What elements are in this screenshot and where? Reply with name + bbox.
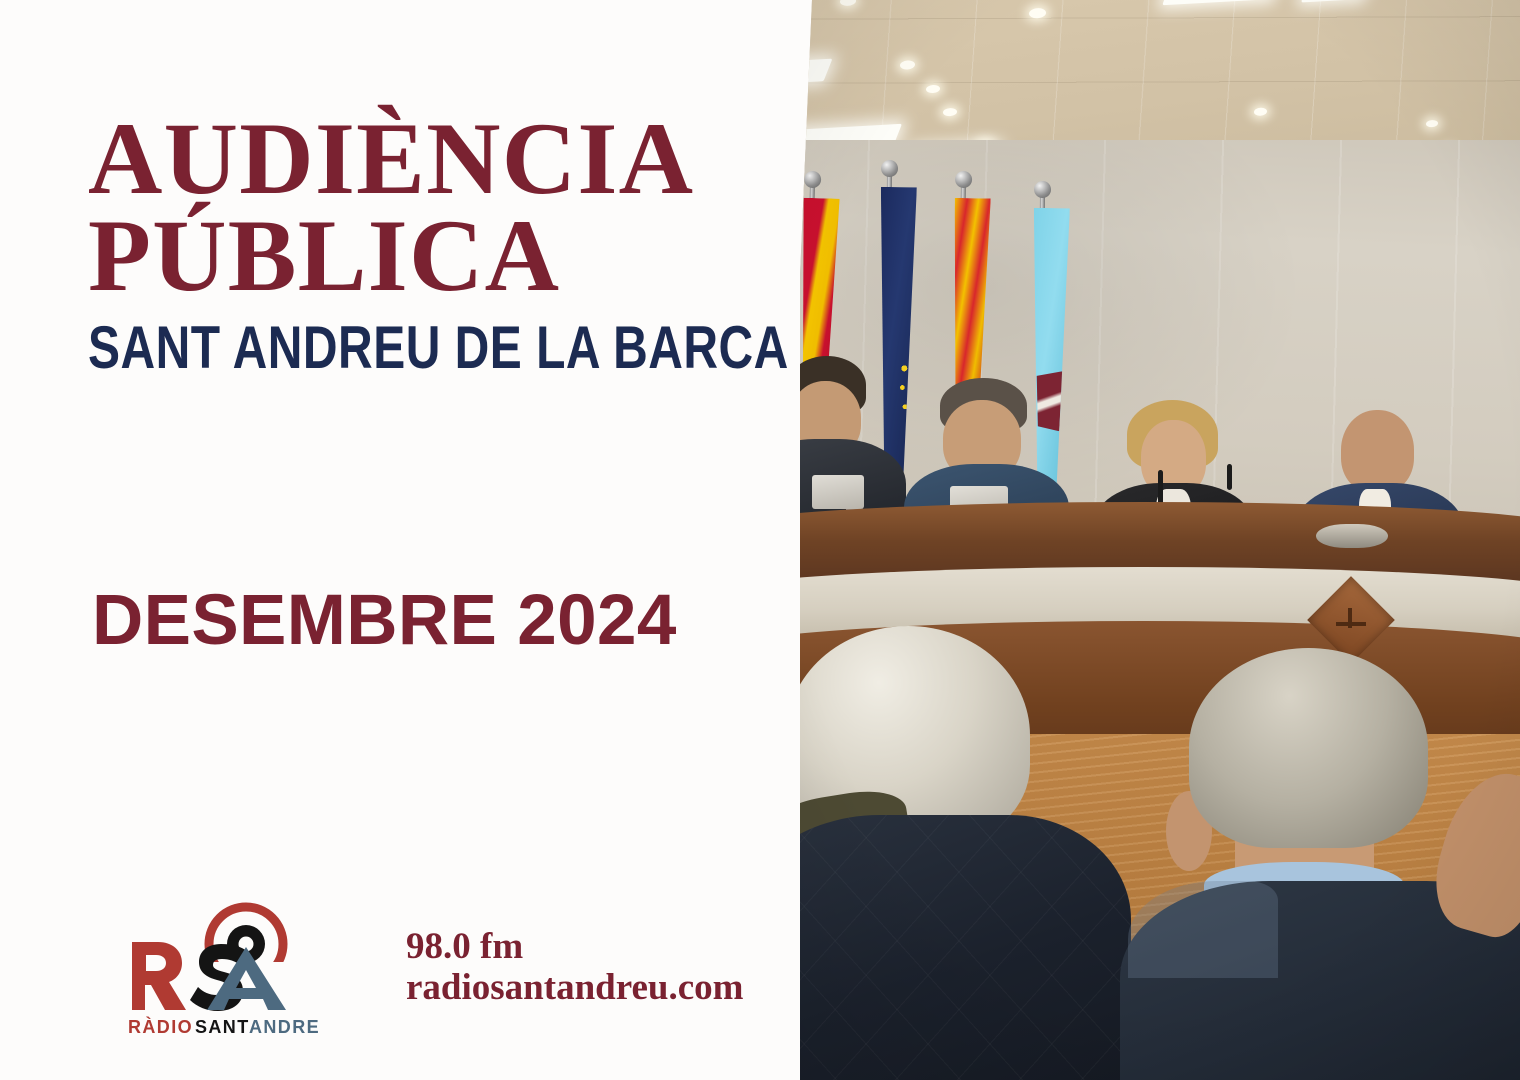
event-date: DESEMBRE 2024 [92, 585, 677, 656]
subtitle-municipality: SANT ANDREU DE LA BARCA [88, 304, 632, 378]
laptop-screen [812, 475, 864, 509]
photo-scene [750, 0, 1520, 1080]
logo-wordmark-andreu: ANDREU [249, 1017, 318, 1037]
logo-letter-r [132, 942, 186, 1010]
flag-finial [881, 160, 898, 177]
rsa-logo-svg: RÀDIO SANT ANDREU [118, 900, 318, 1040]
quilted-jacket [750, 815, 1131, 1080]
audience-member-white-hair-quilted-jacket [765, 626, 1104, 1080]
grey-hair [1189, 648, 1428, 848]
council-chamber-photo [750, 0, 1520, 1080]
text-panel: AUDIÈNCIA PÚBLICA SANT ANDREU DE LA BARC… [0, 0, 800, 1080]
barca-boat-mark [1334, 608, 1368, 632]
logo-wordmark-radio: RÀDIO [128, 1016, 193, 1037]
headline-line-2: PÚBLICA [88, 209, 768, 304]
quilt-stitching [750, 815, 1131, 1080]
dais-speaker-plate [1316, 524, 1388, 548]
head [1341, 410, 1414, 493]
flag-finial [1033, 181, 1050, 198]
microphone [1158, 470, 1163, 506]
radio-sant-andreu-logo[interactable]: RÀDIO SANT ANDREU 98.0 fm radiosantandre… [118, 900, 743, 1040]
poster-canvas: AUDIÈNCIA PÚBLICA SANT ANDREU DE LA BARC… [0, 0, 1520, 1080]
microphone [1227, 464, 1232, 490]
rsa-logo-mark: RÀDIO SANT ANDREU [118, 900, 318, 1040]
radio-frequency: 98.0 fm [406, 926, 743, 967]
station-info: 98.0 fm radiosantandreu.com [406, 900, 743, 1009]
sweater-shoulder-panel [1128, 881, 1277, 978]
radio-website[interactable]: radiosantandreu.com [406, 967, 743, 1008]
flag-finial [954, 170, 971, 187]
logo-wordmark-sant: SANT [195, 1017, 250, 1037]
headline-line-1: AUDIÈNCIA [88, 112, 768, 207]
audience-member-grey-hair-navy-sweater [1150, 648, 1520, 1080]
flag-finial [804, 170, 821, 187]
headline-block: AUDIÈNCIA PÚBLICA SANT ANDREU DE LA BARC… [88, 112, 768, 378]
